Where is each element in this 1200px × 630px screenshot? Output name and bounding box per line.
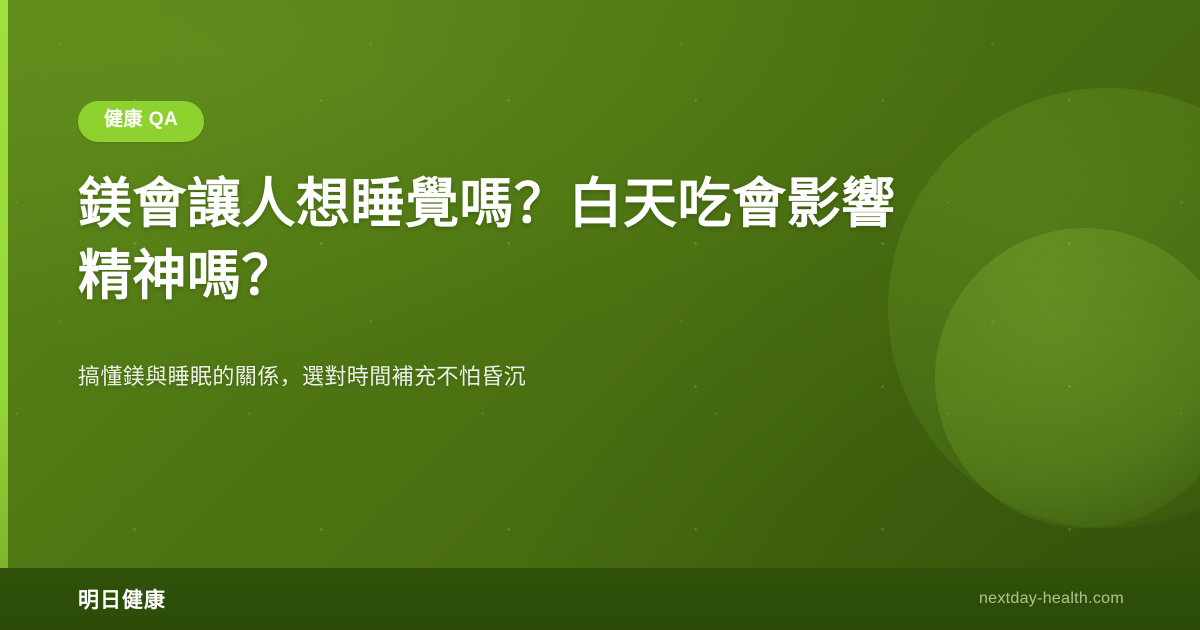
page-subtitle: 搞懂鎂與睡眠的關係，選對時間補充不怕昏沉 (78, 360, 858, 393)
category-badge: 健康 QA (78, 101, 204, 142)
left-accent-bar (0, 0, 8, 630)
page-title: 鎂會讓人想睡覺嗎？白天吃會影響精神嗎？ (78, 169, 908, 313)
brand-name: 明日健康 (78, 584, 166, 614)
site-url: nextday-health.com (979, 590, 1124, 608)
card-footer: 明日健康 nextday-health.com (0, 568, 1200, 630)
card-content: 健康 QA 鎂會讓人想睡覺嗎？白天吃會影響精神嗎？ 搞懂鎂與睡眠的關係，選對時間… (78, 0, 978, 393)
og-share-card: 健康 QA 鎂會讓人想睡覺嗎？白天吃會影響精神嗎？ 搞懂鎂與睡眠的關係，選對時間… (0, 0, 1200, 630)
